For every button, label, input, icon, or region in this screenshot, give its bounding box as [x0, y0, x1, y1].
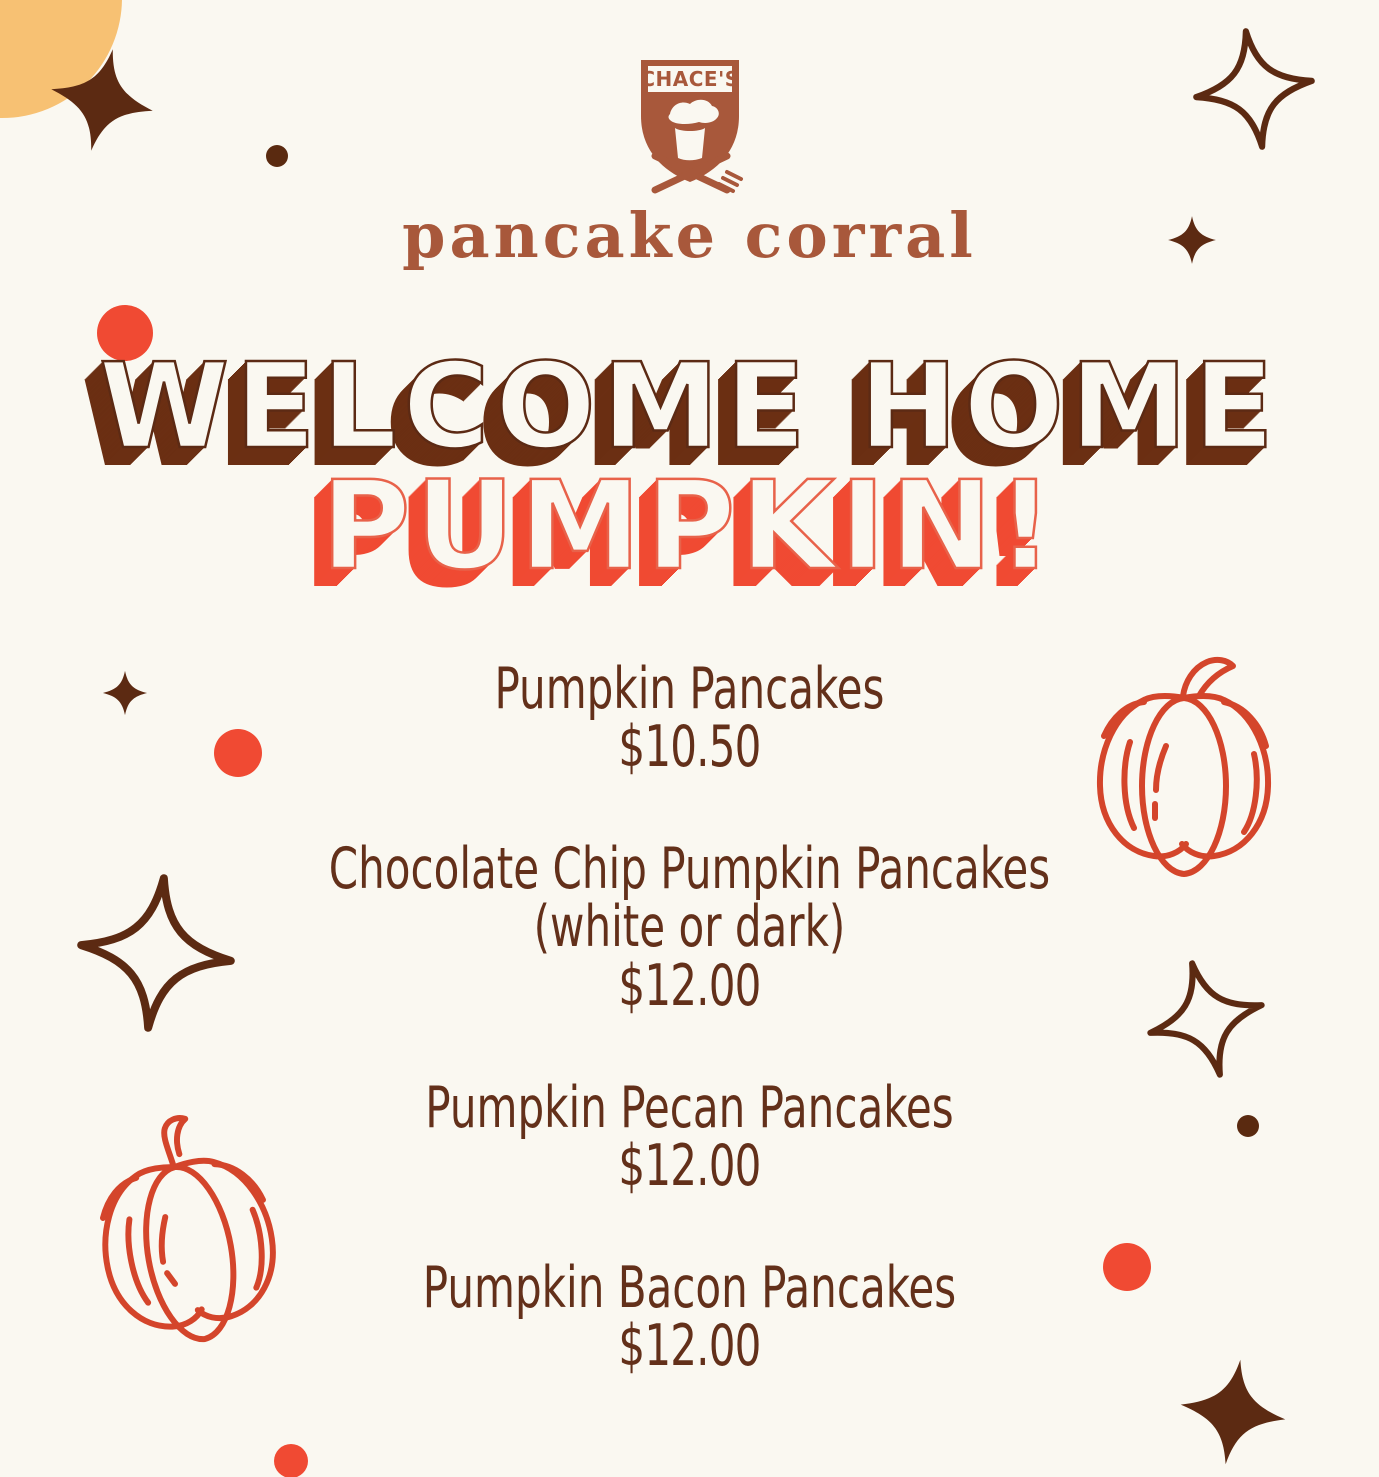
menu-item-name: Pumpkin Bacon Pancakes	[124, 1259, 1255, 1317]
menu-item: Pumpkin Pancakes $10.50	[0, 660, 1379, 776]
menu-item-price: $12.00	[124, 957, 1255, 1015]
headline-line-2: PUMPKIN!	[0, 470, 1379, 583]
menu-item: Pumpkin Pecan Pancakes $12.00	[0, 1079, 1379, 1195]
menu-item: Pumpkin Bacon Pancakes $12.00	[0, 1259, 1379, 1375]
headline-line-1: WELCOME HOME	[0, 352, 1379, 462]
menu-item-price: $12.00	[124, 1137, 1255, 1195]
menu-item-name: Pumpkin Pancakes	[124, 660, 1255, 718]
menu-item: Chocolate Chip Pumpkin Pancakes (white o…	[0, 840, 1379, 1014]
menu-item-price: $10.50	[124, 718, 1255, 776]
menu-item-name: Chocolate Chip Pumpkin Pancakes	[124, 840, 1255, 898]
menu-item-sub: (white or dark)	[124, 898, 1255, 956]
headline: WELCOME HOME PUMPKIN!	[0, 352, 1379, 583]
brand-logo: CHACE'S pancake corral	[0, 44, 1379, 267]
brand-wordmark: pancake corral	[0, 205, 1379, 267]
menu-item-price: $12.00	[124, 1317, 1255, 1375]
menu-list: Pumpkin Pancakes $10.50 Chocolate Chip P…	[0, 660, 1379, 1375]
menu-item-name: Pumpkin Pecan Pancakes	[124, 1079, 1255, 1137]
circle-bottom-left-shape	[274, 1444, 308, 1477]
shield-text: CHACE'S	[640, 67, 739, 91]
chaces-shield-logo: CHACE'S	[615, 44, 765, 199]
poster-canvas: CHACE'S pancake corral WELCOME HOME PUMP…	[0, 0, 1379, 1477]
